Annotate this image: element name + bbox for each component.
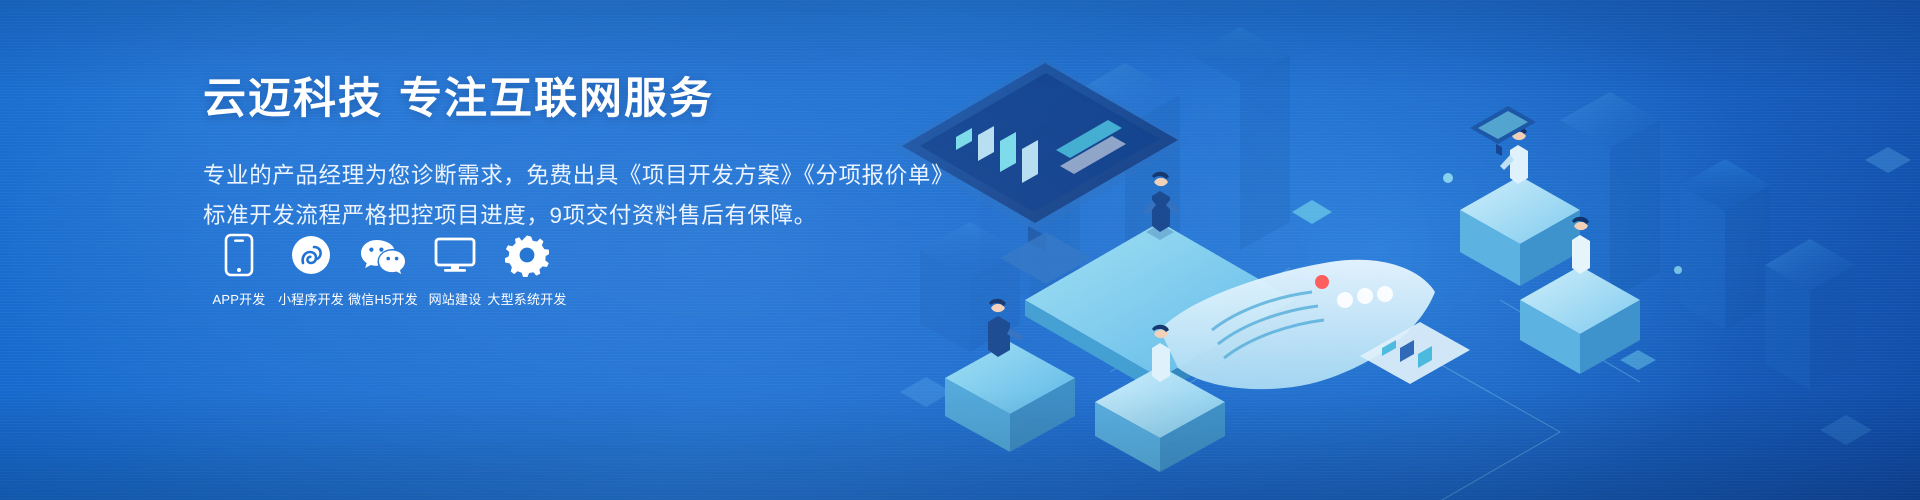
mini-program-icon bbox=[290, 232, 332, 278]
service-item-app[interactable]: APP开发 bbox=[203, 232, 275, 308]
service-item-mini-program[interactable]: 小程序开发 bbox=[275, 232, 347, 308]
subtitle-line-2: 标准开发流程严格把控项目进度，9项交付资料售后有保障。 bbox=[203, 200, 923, 232]
service-label: 小程序开发 bbox=[278, 292, 344, 308]
service-list: APP开发 小程序开发 bbox=[203, 232, 563, 308]
illustration-person-bottom-mid bbox=[1152, 325, 1170, 382]
wechat-icon bbox=[358, 232, 408, 278]
mobile-phone-icon bbox=[224, 232, 254, 278]
service-label: APP开发 bbox=[212, 292, 265, 308]
service-label: 网站建设 bbox=[429, 292, 482, 308]
illustration-isometric-tech bbox=[860, 0, 1920, 500]
headline-brand: 云迈科技 bbox=[203, 75, 383, 123]
hero-copy: 云迈科技专注互联网服务 专业的产品经理为您诊断需求，免费出具《项目开发方案》《分… bbox=[203, 72, 923, 232]
service-item-website[interactable]: 网站建设 bbox=[419, 232, 491, 308]
illustration-person-right-lower bbox=[1572, 217, 1590, 274]
service-item-wechat-h5[interactable]: 微信H5开发 bbox=[347, 232, 419, 308]
illustration-cube-bottom-left bbox=[945, 342, 1075, 452]
service-label: 微信H5开发 bbox=[348, 292, 418, 308]
gear-icon bbox=[505, 232, 549, 278]
page-title: 云迈科技专注互联网服务 bbox=[203, 72, 923, 126]
headline-tagline: 专注互联网服务 bbox=[399, 75, 714, 123]
service-item-large-system[interactable]: 大型系统开发 bbox=[491, 232, 563, 308]
subtitle-line-1: 专业的产品经理为您诊断需求，免费出具《项目开发方案》《分项报价单》 bbox=[203, 160, 923, 192]
monitor-icon bbox=[433, 232, 477, 278]
hero-banner: 云迈科技专注互联网服务 专业的产品经理为您诊断需求，免费出具《项目开发方案》《分… bbox=[0, 0, 1920, 500]
service-label: 大型系统开发 bbox=[487, 292, 566, 308]
